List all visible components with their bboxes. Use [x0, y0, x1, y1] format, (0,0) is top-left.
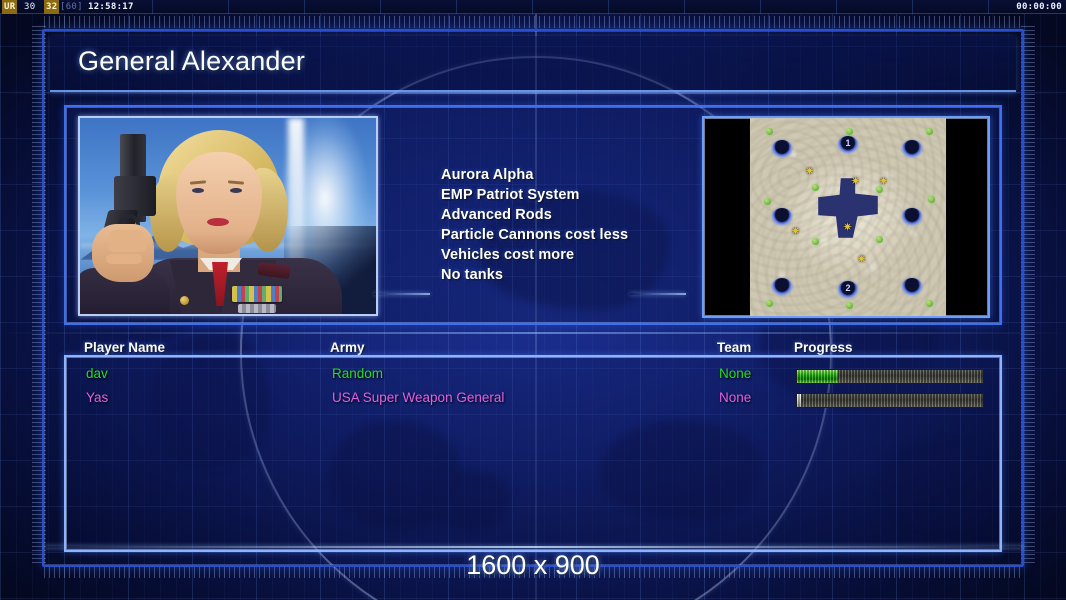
- map-supply-dot: [926, 300, 933, 307]
- player-army[interactable]: Random: [332, 366, 383, 381]
- map-supply-dot: [766, 300, 773, 307]
- map-spawn-point: 2: [838, 281, 858, 298]
- player-name: Yas: [86, 390, 108, 405]
- page-title: General Alexander: [78, 46, 305, 77]
- ability-item: Aurora Alpha: [441, 165, 628, 185]
- map-spawn-point: [772, 140, 792, 157]
- ruler-right: [1021, 26, 1035, 566]
- map-spawn-point: [902, 278, 922, 295]
- ability-item: Vehicles cost more: [441, 245, 628, 265]
- background-highlight-line-mid: [0, 332, 1066, 334]
- player-name: dav: [86, 366, 108, 381]
- player-team[interactable]: None: [719, 366, 751, 381]
- map-supply-dot: [846, 128, 853, 135]
- map-spawn-point: 1: [838, 136, 858, 153]
- status-label-ur: UR: [2, 0, 17, 14]
- map-star-icon: ✷: [850, 176, 861, 187]
- divider-right: [630, 293, 686, 295]
- status-clock: 12:58:17: [88, 0, 134, 14]
- column-header-team: Team: [717, 340, 751, 355]
- ability-item: No tanks: [441, 265, 628, 285]
- top-status-bar: UR 30 32 [60] 12:58:17 00:00:00: [0, 0, 1066, 14]
- map-spawn-point: [902, 140, 922, 157]
- status-value-a: 30: [24, 0, 35, 14]
- player-list-panel: dav Random None Yas USA Super Weapon Gen…: [64, 355, 1002, 552]
- ruler-top: [44, 16, 1022, 28]
- map-spawn-point: [902, 208, 922, 225]
- map-star-icon: ✷: [878, 176, 889, 187]
- ability-item: Advanced Rods: [441, 205, 628, 225]
- map-supply-dot: [812, 184, 819, 191]
- status-value-b: 32: [44, 0, 59, 14]
- ruler-left: [32, 26, 46, 566]
- ability-item: EMP Patriot System: [441, 185, 628, 205]
- general-portrait: [78, 116, 378, 316]
- column-header-army: Army: [330, 340, 365, 355]
- divider-left: [374, 293, 430, 295]
- ability-item: Particle Cannons cost less: [441, 225, 628, 245]
- progress-bar: [796, 393, 984, 408]
- general-info-panel: Aurora Alpha EMP Patriot System Advanced…: [64, 105, 1002, 325]
- title-panel: General Alexander: [50, 36, 1016, 92]
- map-star-icon: ✷: [804, 166, 815, 177]
- map-star-icon: ✷: [856, 254, 867, 265]
- map-spawn-point: [772, 278, 792, 295]
- map-spawn-point: [772, 208, 792, 225]
- map-supply-dot: [766, 128, 773, 135]
- resolution-label: 1600 x 900: [0, 550, 1066, 581]
- map-supply-dot: [812, 238, 819, 245]
- table-row[interactable]: Yas USA Super Weapon General None: [66, 390, 1004, 414]
- map-star-icon: ✷: [790, 226, 801, 237]
- background-highlight-line-top: [0, 92, 1066, 94]
- map-preview[interactable]: 1 2 ✷ ✷ ✷: [702, 116, 990, 318]
- game-lobby-screen: UR 30 32 [60] 12:58:17 00:00:00 General …: [0, 0, 1066, 600]
- status-value-max: [60]: [60, 0, 83, 14]
- player-army[interactable]: USA Super Weapon General: [332, 390, 504, 405]
- general-ability-list: Aurora Alpha EMP Patriot System Advanced…: [441, 165, 628, 285]
- status-right-clock: 00:00:00: [1016, 0, 1062, 14]
- map-supply-dot: [764, 198, 771, 205]
- column-header-player-name: Player Name: [84, 340, 165, 355]
- map-star-icon: ✷: [842, 222, 853, 233]
- map-terrain: 1 2 ✷ ✷ ✷: [750, 118, 946, 316]
- map-supply-dot: [846, 302, 853, 309]
- map-supply-dot: [876, 236, 883, 243]
- map-supply-dot: [926, 128, 933, 135]
- map-supply-dot: [928, 196, 935, 203]
- table-row[interactable]: dav Random None: [66, 366, 1004, 390]
- player-team[interactable]: None: [719, 390, 751, 405]
- footer-divider: [44, 546, 1024, 548]
- column-header-progress: Progress: [794, 340, 853, 355]
- progress-bar: [796, 369, 984, 384]
